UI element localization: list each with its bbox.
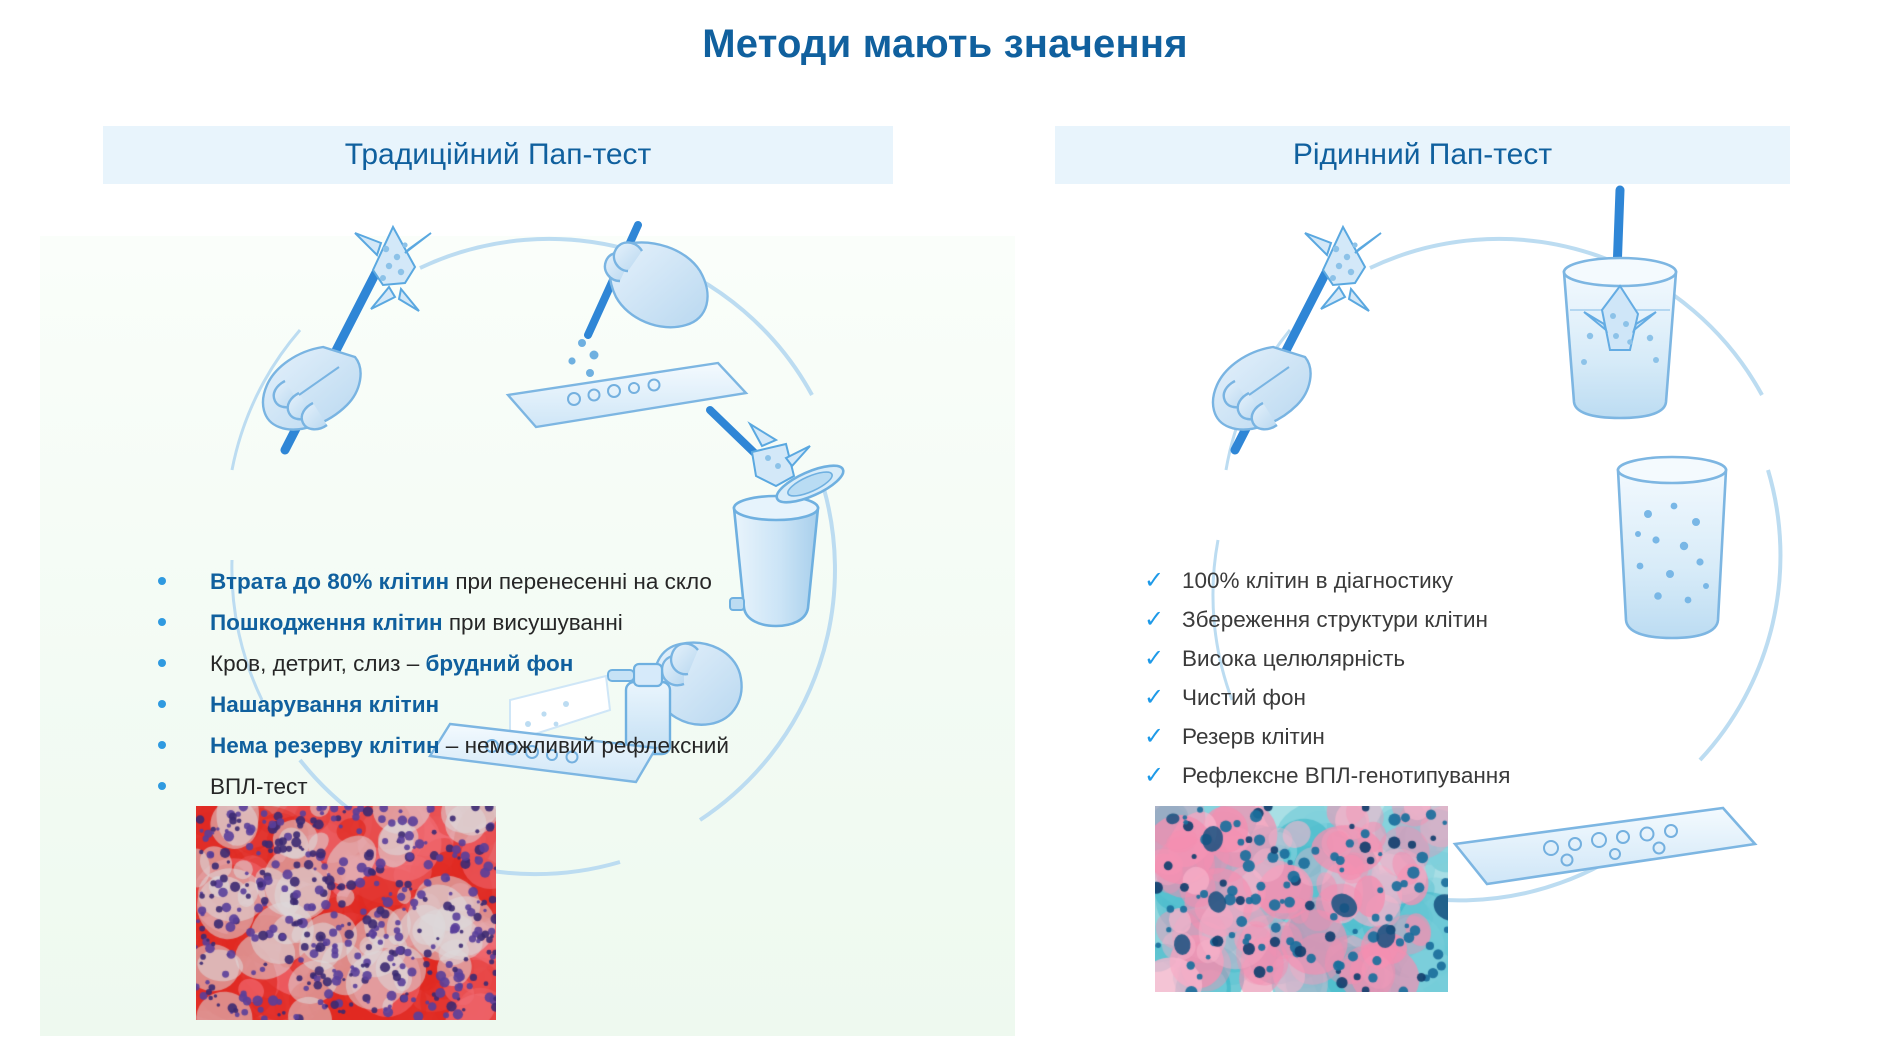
list-item: Пошкодження клітин при висушуванні [148, 602, 908, 643]
bullet-dot-icon [158, 577, 166, 585]
list-item: Кров, детрит, слиз – брудний фон [148, 643, 908, 684]
bullet-bold-text: Нема резерву клітин [210, 733, 440, 758]
liquid-based-check-list: ✓ 100% клітин в діагностику ✓ Збереження… [1100, 561, 1840, 795]
bullet-bold-text: брудний фон [425, 651, 573, 676]
liquid-based-micrograph [1155, 806, 1448, 992]
list-item: ✓ Чистий фон [1140, 678, 1840, 717]
list-item: ✓ 100% клітин в діагностику [1140, 561, 1840, 600]
bullet-plain-text: при перенесенні на скло [449, 569, 712, 594]
bullet-dot-icon [158, 659, 166, 667]
slide-root: Методи мають значення Традиційний Пап-те… [0, 0, 1890, 1058]
bullet-dot-icon [158, 700, 166, 708]
bullet-dot-icon [158, 741, 166, 749]
check-item-label: Чистий фон [1182, 685, 1306, 710]
check-item-label: Резерв клітин [1182, 724, 1325, 749]
bullet-plain-text: – неможливий рефлексний [440, 733, 729, 758]
bullet-bold-text: Пошкодження клітин [210, 610, 443, 635]
list-item: ✓ Висока целюлярність [1140, 639, 1840, 678]
list-item: ✓ Резерв клітин [1140, 717, 1840, 756]
bullet-plain-text: при висушуванні [443, 610, 623, 635]
check-icon: ✓ [1144, 678, 1164, 717]
list-item: Нема резерву клітин – неможливий рефлекс… [148, 725, 908, 766]
check-item-label: Рефлексне ВПЛ-генотипування [1182, 763, 1510, 788]
check-item-label: 100% клітин в діагностику [1182, 568, 1453, 593]
bullet-pre-text: Кров, детрит, слиз – [210, 651, 425, 676]
list-item: ВПЛ-тест [148, 766, 908, 807]
check-item-label: Збереження структури клітин [1182, 607, 1488, 632]
page-title: Методи мають значення [0, 22, 1890, 67]
list-item: ✓ Рефлексне ВПЛ-генотипування [1140, 756, 1840, 795]
list-item: Нашарування клітин [148, 684, 908, 725]
conventional-bullet-list: Втрата до 80% клітин при перенесенні на … [108, 561, 908, 807]
list-item: Втрата до 80% клітин при перенесенні на … [148, 561, 908, 602]
column-header-liquid-based: Рідинний Пап-тест [1055, 126, 1790, 184]
check-icon: ✓ [1144, 717, 1164, 756]
check-icon: ✓ [1144, 756, 1164, 795]
column-header-conventional-label: Традиційний Пап-тест [345, 138, 652, 172]
conventional-smear-micrograph [196, 806, 496, 1020]
bullet-dot-icon [158, 782, 166, 790]
column-header-liquid-based-label: Рідинний Пап-тест [1293, 138, 1552, 172]
bullet-bold-text: Нашарування клітин [210, 692, 439, 717]
check-icon: ✓ [1144, 561, 1164, 600]
check-icon: ✓ [1144, 639, 1164, 678]
bullet-dot-icon [158, 618, 166, 626]
column-header-conventional: Традиційний Пап-тест [103, 126, 893, 184]
bullet-pre-text: ВПЛ-тест [210, 774, 308, 799]
check-icon: ✓ [1144, 600, 1164, 639]
bullet-bold-text: Втрата до 80% клітин [210, 569, 449, 594]
list-item: ✓ Збереження структури клітин [1140, 600, 1840, 639]
check-item-label: Висока целюлярність [1182, 646, 1405, 671]
